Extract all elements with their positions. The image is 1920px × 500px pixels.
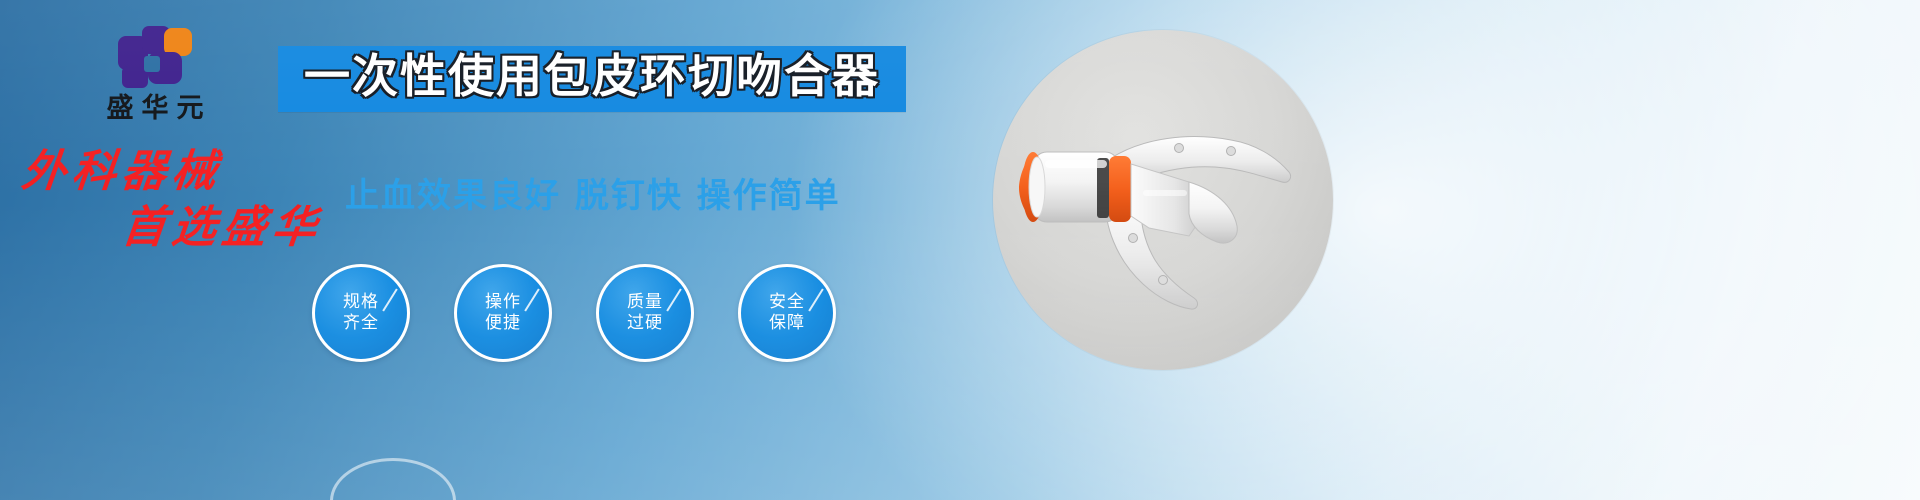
stapler-illustration [993, 30, 1333, 370]
page-title: 一次性使用包皮环切吻合器 [304, 52, 880, 102]
product-photo [993, 30, 1333, 370]
calligraphy-line-1: 外科器械 [20, 150, 325, 194]
badge-slash-icon [382, 288, 397, 311]
feature-badge[interactable]: 规格 齐全 [312, 264, 410, 362]
feature-badge[interactable]: 操作 便捷 [454, 264, 552, 362]
feature-badge[interactable]: 安全 保障 [738, 264, 836, 362]
decorative-arc [330, 458, 456, 500]
blocks-logo-icon [118, 26, 192, 88]
badge-slash-icon [808, 288, 823, 311]
badge-label-line1: 规格 [343, 292, 379, 312]
calligraphy-slogan: 外科器械 首选盛华 [22, 150, 322, 250]
feature-badge-list: 规格 齐全 操作 便捷 质量 过硬 安全 保障 [312, 264, 836, 362]
badge-label-line2: 齐全 [343, 313, 379, 333]
badge-label-line2: 便捷 [485, 313, 521, 333]
feature-badge[interactable]: 质量 过硬 [596, 264, 694, 362]
promo-banner: 盛华元 一次性使用包皮环切吻合器 外科器械 首选盛华 止血效果良好 脱钉快 操作… [0, 0, 1920, 500]
badge-label-line1: 安全 [769, 292, 805, 312]
calligraphy-line-2: 首选盛华 [120, 206, 325, 250]
company-logo: 盛华元 [60, 26, 250, 124]
badge-label-line2: 保障 [769, 313, 805, 333]
company-name: 盛华元 [60, 94, 250, 124]
badge-slash-icon [524, 288, 539, 311]
badge-slash-icon [666, 288, 681, 311]
badge-label-line1: 质量 [627, 292, 663, 312]
badge-label-line1: 操作 [485, 292, 521, 312]
subtitle: 止血效果良好 脱钉快 操作简单 [345, 168, 841, 217]
product-title-bar: 一次性使用包皮环切吻合器 [278, 46, 906, 112]
badge-label-line2: 过硬 [627, 313, 663, 333]
